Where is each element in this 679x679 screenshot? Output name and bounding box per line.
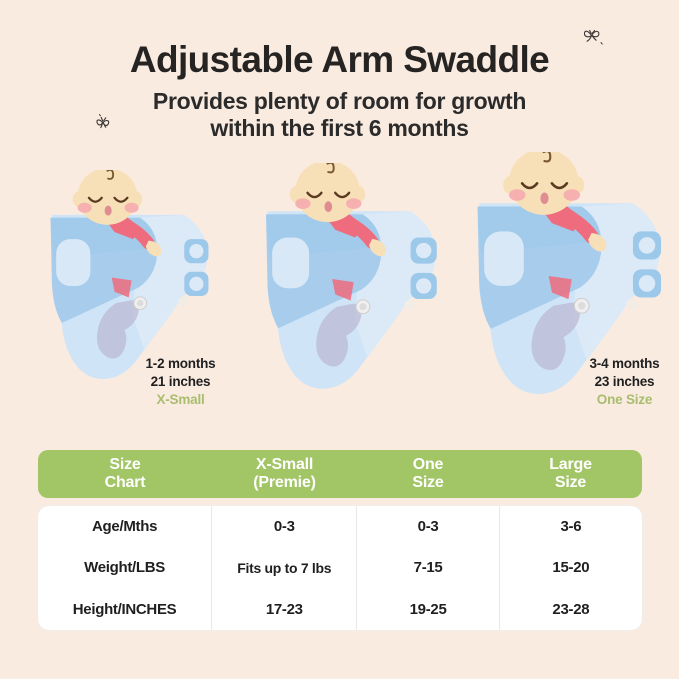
size-chart-header-cell: Size Chart xyxy=(38,456,212,492)
swaddle-item: 4-6 months 28 inches Large Size xyxy=(450,150,679,420)
swaddle-figure-large xyxy=(456,152,671,405)
swaddle-item: 1-2 months 21 inches X-Small xyxy=(6,150,231,420)
header-line-2: Chart xyxy=(38,474,212,492)
row-label: Height/INCHES xyxy=(38,589,211,630)
row-label: Weight/LBS xyxy=(38,547,211,588)
swaddle-months: 1-2 months xyxy=(118,355,243,373)
table-cell: Fits up to 7 lbs xyxy=(212,547,356,588)
size-chart-header-row: Size Chart X-Small (Premie) One Size Lar… xyxy=(38,450,642,498)
swaddle-figure-medium xyxy=(246,163,446,400)
table-cell: 19-25 xyxy=(357,589,498,630)
table-cell: 3-6 xyxy=(500,506,642,547)
swaddle-illustrations: 1-2 months 21 inches X-Small xyxy=(0,150,679,420)
table-cell: 0-3 xyxy=(357,506,498,547)
swaddle-caption: 1-2 months 21 inches X-Small xyxy=(118,355,243,408)
size-chart-label-column: Age/Mths Weight/LBS Height/INCHES xyxy=(38,506,212,630)
size-chart-body: Age/Mths Weight/LBS Height/INCHES 0-3 Fi… xyxy=(38,506,642,630)
header-line-1: One xyxy=(357,456,499,474)
table-cell: 17-23 xyxy=(212,589,356,630)
butterfly-icon xyxy=(90,106,120,141)
size-chart-column-x-small: 0-3 Fits up to 7 lbs 17-23 xyxy=(212,506,357,630)
size-chart-header-cell: X-Small (Premie) xyxy=(212,456,357,492)
header-line-2: Size xyxy=(499,474,642,492)
butterfly-icon xyxy=(578,22,608,57)
header-line-1: Size xyxy=(38,456,212,474)
swaddle-size: X-Small xyxy=(118,391,243,409)
size-chart-column-one-size: 0-3 7-15 19-25 xyxy=(357,506,499,630)
header-line-2: (Premie) xyxy=(212,474,357,492)
table-cell: 7-15 xyxy=(357,547,498,588)
infographic-root: Adjustable Arm Swaddle Provides plenty o… xyxy=(0,0,679,679)
table-cell: 23-28 xyxy=(500,589,642,630)
header-line-1: Large xyxy=(499,456,642,474)
swaddle-inches: 21 inches xyxy=(118,373,243,391)
size-chart-header-cell: One Size xyxy=(357,456,499,492)
header-line-2: Size xyxy=(357,474,499,492)
table-cell: 0-3 xyxy=(212,506,356,547)
table-cell: 15-20 xyxy=(500,547,642,588)
row-label: Age/Mths xyxy=(38,506,211,547)
size-chart-column-large-size: 3-6 15-20 23-28 xyxy=(500,506,642,630)
size-chart-table: Size Chart X-Small (Premie) One Size Lar… xyxy=(38,450,642,630)
header-line-1: X-Small xyxy=(212,456,357,474)
swaddle-item: 3-4 months 23 inches One Size xyxy=(232,150,457,420)
size-chart-header-cell: Large Size xyxy=(499,456,642,492)
